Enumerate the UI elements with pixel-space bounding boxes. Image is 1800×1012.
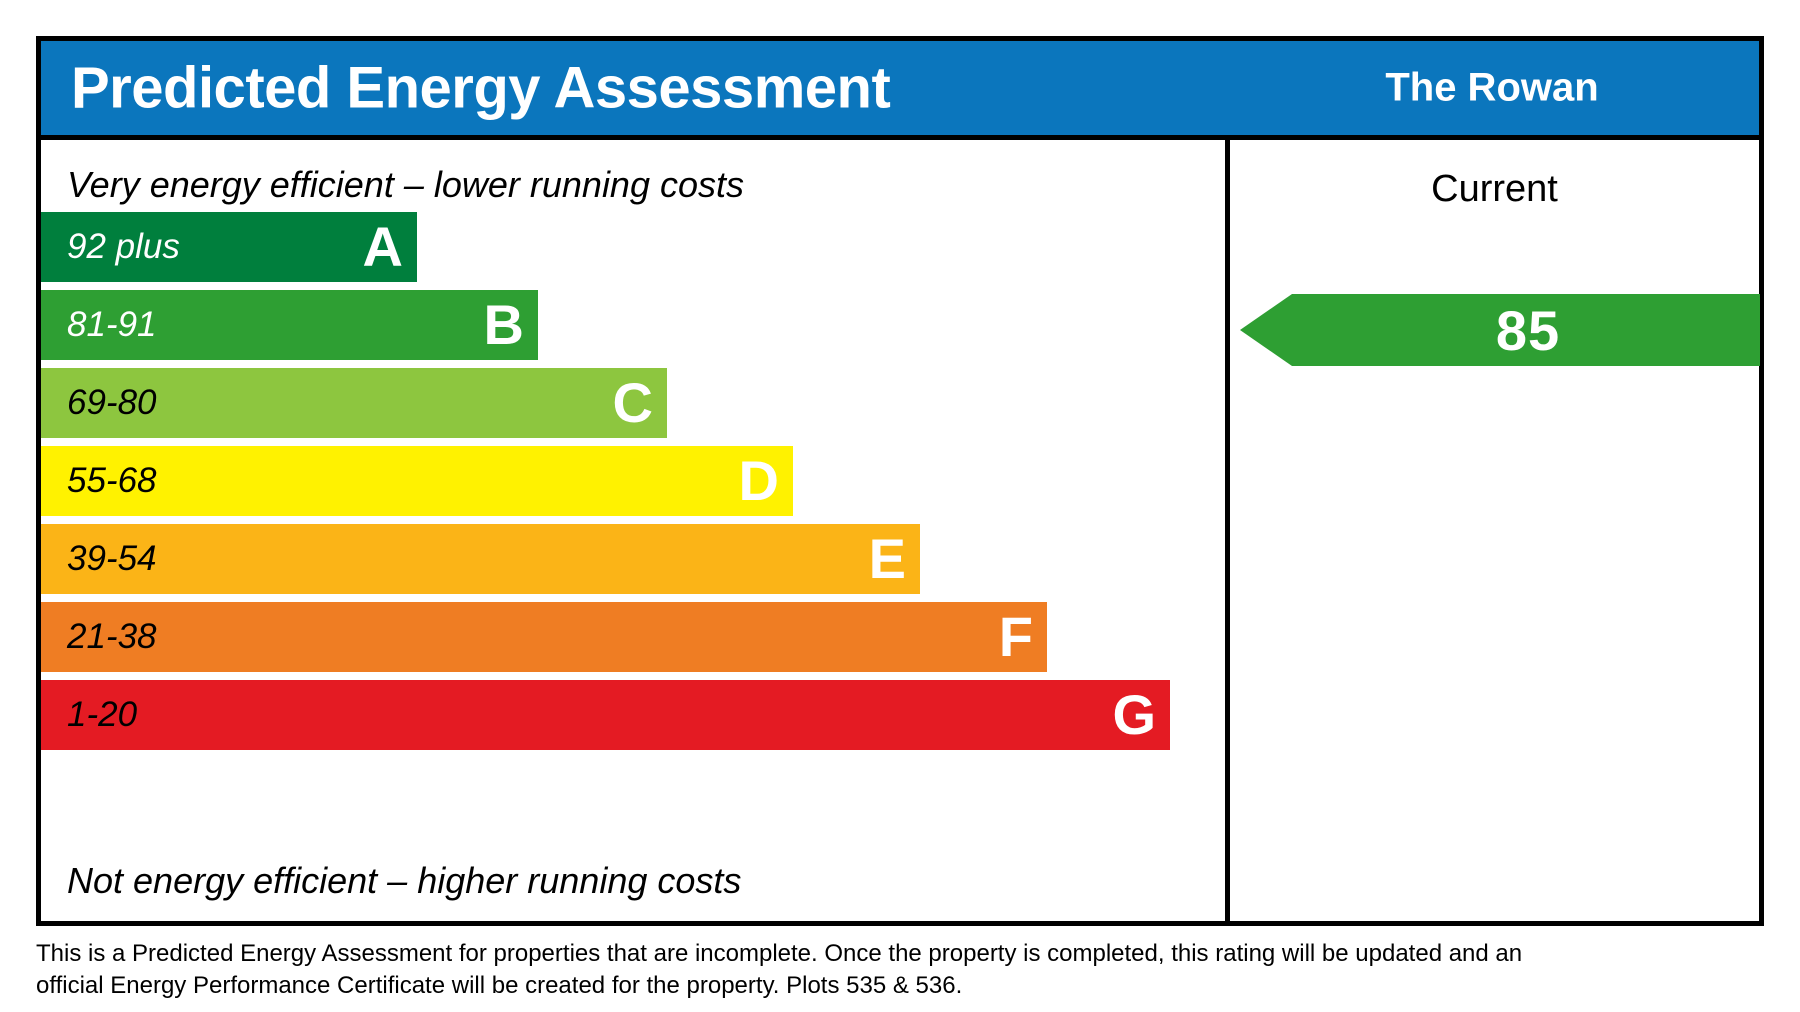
band-letter-d: D bbox=[739, 453, 779, 509]
band-range-e: 39-54 bbox=[67, 539, 157, 579]
band-row-b: B81-91 bbox=[41, 290, 1225, 360]
band-bar-e: E bbox=[41, 524, 920, 594]
band-letter-a: A bbox=[363, 219, 403, 275]
property-name: The Rowan bbox=[1225, 66, 1759, 111]
band-letter-b: B bbox=[484, 297, 524, 353]
certificate-header: Predicted Energy Assessment The Rowan bbox=[41, 41, 1759, 135]
rating-column: Current 85 bbox=[1230, 140, 1759, 921]
band-bar-g: G bbox=[41, 680, 1170, 750]
epc-certificate: Predicted Energy Assessment The Rowan Ve… bbox=[36, 36, 1764, 926]
page-title: Predicted Energy Assessment bbox=[71, 55, 890, 122]
band-row-e: E39-54 bbox=[41, 524, 1225, 594]
band-letter-g: G bbox=[1112, 687, 1156, 743]
band-row-g: G1-20 bbox=[41, 680, 1225, 750]
band-letter-f: F bbox=[999, 609, 1033, 665]
footer-line-1: This is a Predicted Energy Assessment fo… bbox=[36, 938, 1756, 970]
band-letter-e: E bbox=[869, 531, 906, 587]
band-range-f: 21-38 bbox=[67, 617, 157, 657]
band-row-f: F21-38 bbox=[41, 602, 1225, 672]
scale-caption-top: Very energy efficient – lower running co… bbox=[67, 164, 744, 206]
band-letter-c: C bbox=[613, 375, 653, 431]
band-range-g: 1-20 bbox=[67, 695, 137, 735]
certificate-body: Very energy efficient – lower running co… bbox=[41, 140, 1759, 921]
band-range-a: 92 plus bbox=[67, 227, 180, 267]
band-range-c: 69-80 bbox=[67, 383, 157, 423]
band-bar-f: F bbox=[41, 602, 1047, 672]
rating-column-heading: Current bbox=[1230, 168, 1759, 211]
band-row-c: C69-80 bbox=[41, 368, 1225, 438]
energy-scale: Very energy efficient – lower running co… bbox=[41, 140, 1225, 921]
band-range-d: 55-68 bbox=[67, 461, 157, 501]
band-row-d: D55-68 bbox=[41, 446, 1225, 516]
band-range-b: 81-91 bbox=[67, 305, 157, 345]
current-rating-value: 85 bbox=[1240, 294, 1760, 366]
footer-line-2: official Energy Performance Certificate … bbox=[36, 970, 1756, 1002]
footer-disclaimer: This is a Predicted Energy Assessment fo… bbox=[36, 938, 1756, 1001]
band-row-a: A92 plus bbox=[41, 212, 1225, 282]
band-list: A92 plusB81-91C69-80D55-68E39-54F21-38G1… bbox=[41, 212, 1225, 758]
scale-caption-bottom: Not energy efficient – higher running co… bbox=[67, 860, 741, 902]
